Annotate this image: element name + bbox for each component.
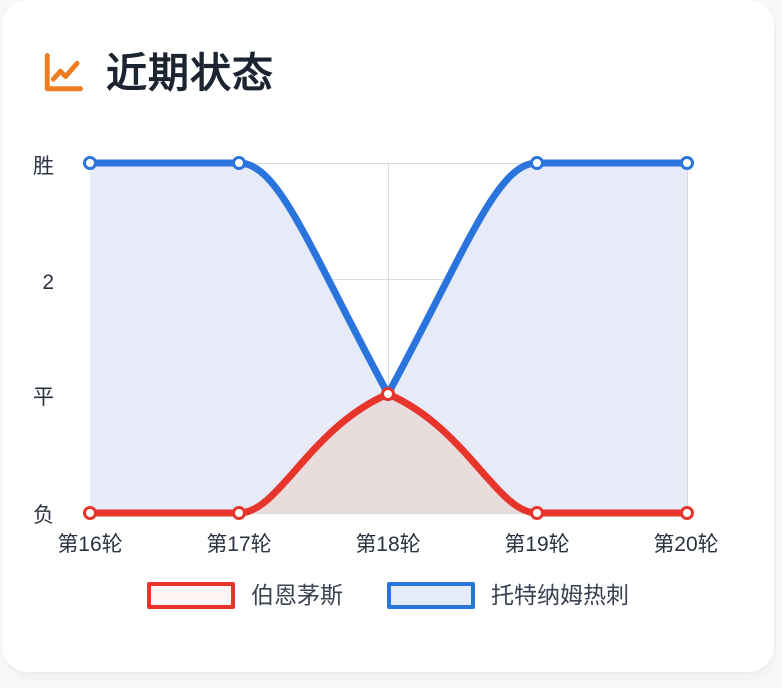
- legend-label-tottenham: 托特纳姆热刺: [491, 584, 629, 607]
- screenshot-root: 近期状态 胜 2 平 负: [0, 0, 782, 688]
- y-axis-label-win: 胜: [8, 156, 54, 177]
- card-header: 近期状态: [42, 42, 274, 104]
- legend-label-bournemouth: 伯恩茅斯: [251, 584, 343, 607]
- x-axis-label-round20: 第20轮: [616, 534, 756, 555]
- chart-area: 胜 2 平 负: [2, 128, 774, 568]
- x-axis-label-round19: 第19轮: [467, 534, 607, 555]
- legend-swatch-bournemouth: [147, 582, 235, 609]
- legend-item-bournemouth[interactable]: 伯恩茅斯: [147, 582, 343, 609]
- y-axis-label-2: 2: [8, 272, 54, 293]
- line-chart-icon: [42, 52, 84, 94]
- recent-form-card: 近期状态 胜 2 平 负: [2, 0, 774, 672]
- legend-item-tottenham[interactable]: 托特纳姆热刺: [387, 582, 629, 609]
- page-title: 近期状态: [106, 53, 274, 94]
- chart-plot: [2, 128, 774, 568]
- y-axis-label-loss: 负: [8, 505, 54, 526]
- y-axis-label-draw: 平: [8, 387, 54, 408]
- legend-swatch-tottenham: [387, 582, 475, 609]
- x-axis-label-round18: 第18轮: [318, 534, 458, 555]
- x-axis-label-round17: 第17轮: [169, 534, 309, 555]
- chart-legend: 伯恩茅斯 托特纳姆热刺: [2, 582, 774, 609]
- x-axis-label-round16: 第16轮: [20, 534, 160, 555]
